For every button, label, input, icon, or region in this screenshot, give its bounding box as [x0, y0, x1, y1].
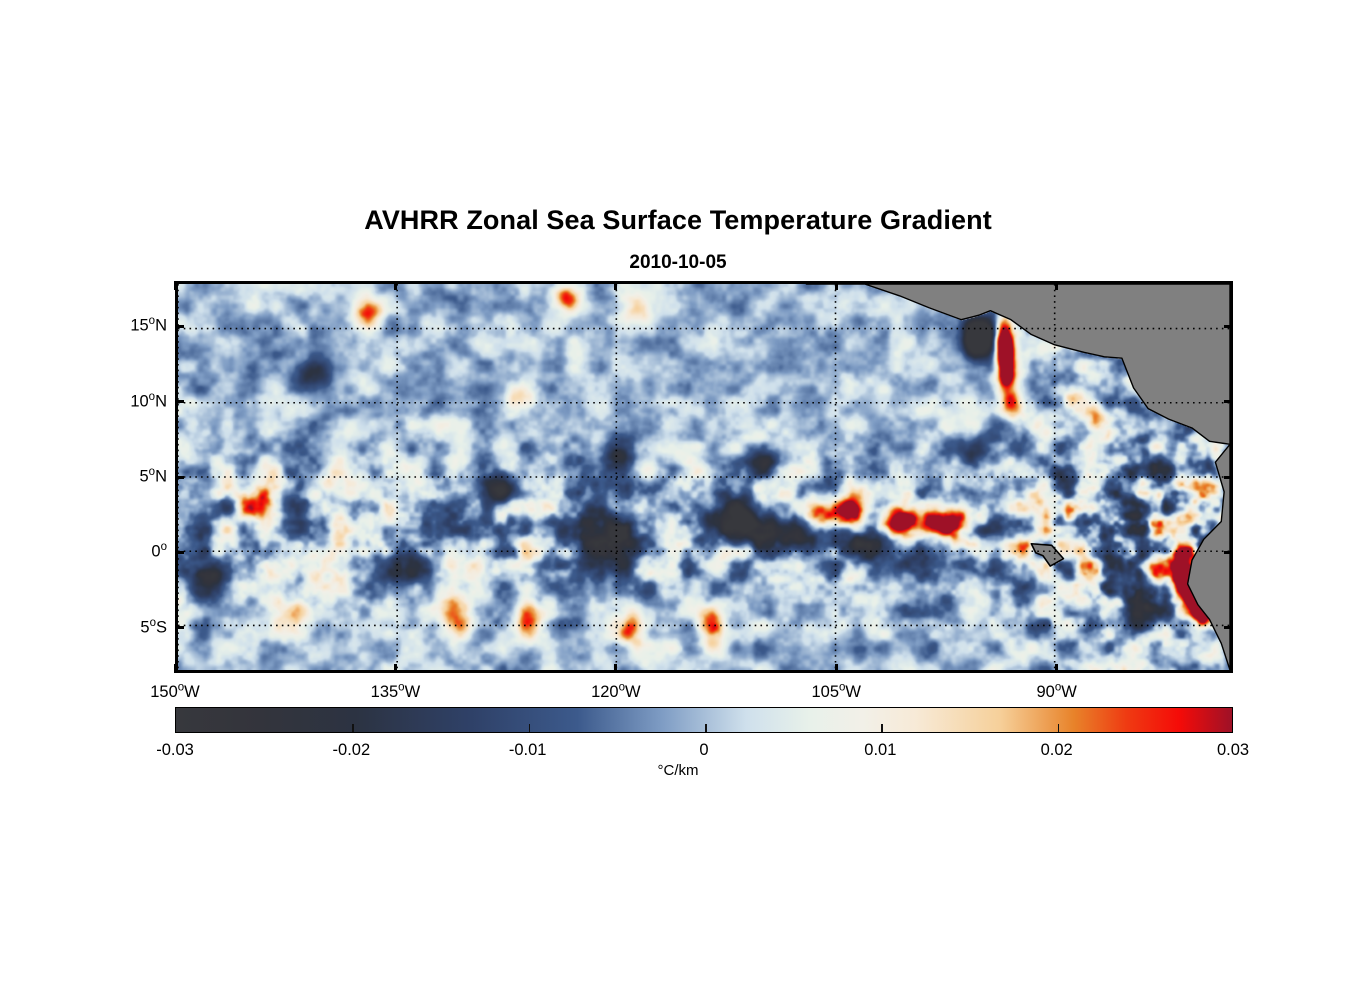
x-tick-120°W-top [614, 281, 617, 290]
x-tick-150°W-top [174, 281, 177, 290]
y-tick-label-5°S: 5oS [83, 618, 167, 637]
colorbar-label--0.01: -0.01 [509, 741, 547, 760]
colorbar-tick--0.01 [529, 724, 531, 732]
x-tick-135°W-bottom [394, 664, 397, 673]
figure-subtitle: 2010-10-05 [0, 252, 1356, 274]
x-tick-105°W-bottom [835, 664, 838, 673]
y-tick-10°N-right [1224, 400, 1233, 403]
land-central-america [806, 284, 1230, 444]
y-tick-5°N-left [175, 476, 184, 479]
map-overlay [178, 284, 1230, 670]
y-tick-label-10°N: 10oN [83, 392, 167, 411]
x-tick-135°W-top [394, 281, 397, 290]
y-tick-5°N-right [1224, 476, 1233, 479]
colorbar-label--0.02: -0.02 [333, 741, 371, 760]
colorbar[interactable] [175, 707, 1233, 733]
y-tick-10°N-left [175, 400, 184, 403]
colorbar-tick-0.01 [881, 724, 883, 732]
colorbar-label-0.02: 0.02 [1041, 741, 1073, 760]
land-galapagos [1031, 544, 1063, 566]
figure-canvas: AVHRR Zonal Sea Surface Temperature Grad… [0, 0, 1356, 1000]
x-tick-150°W-bottom [174, 664, 177, 673]
y-tick-label-0°: 0o [83, 543, 167, 562]
y-tick-15°N-left [175, 325, 184, 328]
colorbar-label--0.03: -0.03 [156, 741, 194, 760]
y-tick-0°-right [1224, 551, 1233, 554]
x-tick-label-105°W: 105oW [811, 683, 861, 702]
x-tick-90°W-bottom [1055, 664, 1058, 673]
colorbar-tick-0 [705, 724, 707, 732]
colorbar-gradient [176, 708, 1232, 732]
x-tick-120°W-bottom [614, 664, 617, 673]
x-tick-105°W-top [835, 281, 838, 290]
y-tick-5°S-left [175, 626, 184, 629]
y-tick-0°-left [175, 551, 184, 554]
x-tick-label-120°W: 120oW [591, 683, 641, 702]
colorbar-label-0: 0 [699, 741, 708, 760]
page-title: AVHRR Zonal Sea Surface Temperature Grad… [0, 205, 1356, 236]
x-tick-label-135°W: 135oW [371, 683, 421, 702]
colorbar-unit-label: °C/km [0, 762, 1356, 779]
colorbar-tick-0.02 [1058, 724, 1060, 732]
y-tick-15°N-right [1224, 325, 1233, 328]
y-tick-label-5°N: 5oN [83, 468, 167, 487]
colorbar-label-0.01: 0.01 [864, 741, 896, 760]
y-tick-5°S-right [1224, 626, 1233, 629]
y-tick-label-15°N: 15oN [83, 317, 167, 336]
colorbar-tick--0.02 [352, 724, 354, 732]
colorbar-label-0.03: 0.03 [1217, 741, 1249, 760]
x-tick-label-90°W: 90oW [1036, 683, 1076, 702]
map-axes[interactable] [175, 281, 1233, 673]
x-tick-90°W-top [1055, 281, 1058, 290]
x-tick-label-150°W: 150oW [150, 683, 200, 702]
